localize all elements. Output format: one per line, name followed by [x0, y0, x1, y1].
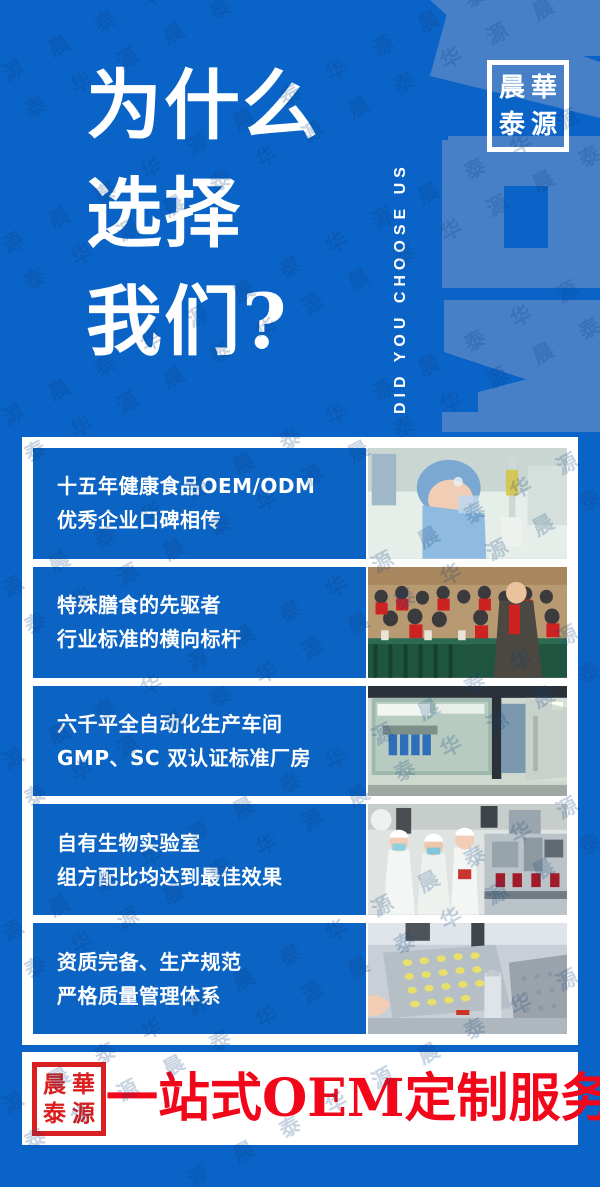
seal-char-yuan: 源 [69, 1099, 98, 1128]
feature-card-line-2: 严格质量管理体系 [57, 979, 366, 1013]
feature-card-text: 十五年健康食品OEM/ODM 优秀企业口碑相传 [33, 448, 366, 559]
feature-card-line-2: 行业标准的横向标杆 [57, 622, 366, 656]
header-section: 为什么 选择 我们? DID YOU CHOOSE US 晨 華 泰 源 [0, 0, 600, 432]
feature-card-line-1: 特殊膳食的先驱者 [57, 588, 366, 622]
feature-card: 自有生物实验室 组方配比均达到最佳效果 [33, 804, 567, 915]
page-title-line-3: 我们? [86, 268, 386, 376]
feature-card-line-2: 组方配比均达到最佳效果 [57, 860, 366, 894]
feature-card: 六千平全自动化生产车间 GMP、SC 双认证标准厂房 [33, 686, 567, 797]
company-seal-white: 晨 華 泰 源 [487, 60, 569, 152]
feature-card-line-1: 自有生物实验室 [57, 826, 366, 860]
poster-root: 为什么 选择 我们? DID YOU CHOOSE US 晨 華 泰 源 十五年… [0, 0, 600, 1187]
feature-card-line-2: GMP、SC 双认证标准厂房 [57, 741, 366, 775]
seal-char-hua: 華 [528, 69, 560, 106]
banner-headline: 一站式OEM定制服务 [106, 1073, 600, 1125]
seal-char-chen: 晨 [496, 69, 528, 106]
lab-technician-pipette-photo [368, 448, 567, 559]
feature-card-text: 自有生物实验室 组方配比均达到最佳效果 [33, 804, 366, 915]
feature-card-text: 特殊膳食的先驱者 行业标准的横向标杆 [33, 567, 366, 678]
feature-card-text: 六千平全自动化生产车间 GMP、SC 双认证标准厂房 [33, 686, 366, 797]
bottom-banner: 晨 華 泰 源 一站式OEM定制服务 [22, 1052, 578, 1145]
conference-audience-photo [368, 567, 567, 678]
tablet-packaging-machine-photo [368, 923, 567, 1034]
feature-card: 特殊膳食的先驱者 行业标准的横向标杆 [33, 567, 567, 678]
company-seal-red: 晨 華 泰 源 [32, 1062, 106, 1136]
seal-char-tai: 泰 [496, 106, 528, 143]
cleanroom-corridor-photo [368, 686, 567, 797]
seal-char-tai: 泰 [40, 1099, 69, 1128]
production-line-workers-photo [368, 804, 567, 915]
feature-card-line-1: 资质完备、生产规范 [57, 945, 366, 979]
page-title: 为什么 选择 我们? [86, 52, 386, 376]
feature-card: 十五年健康食品OEM/ODM 优秀企业口碑相传 [33, 448, 567, 559]
feature-cards-panel: 十五年健康食品OEM/ODM 优秀企业口碑相传 [22, 437, 578, 1045]
feature-card: 资质完备、生产规范 严格质量管理体系 [33, 923, 567, 1034]
vertical-tagline: DID YOU CHOOSE US [392, 14, 426, 414]
seal-char-yuan: 源 [528, 106, 560, 143]
seal-char-chen: 晨 [40, 1070, 69, 1099]
page-title-line-2: 选择 [86, 160, 386, 268]
page-title-line-1: 为什么 [86, 52, 386, 160]
feature-card-line-1: 六千平全自动化生产车间 [57, 707, 366, 741]
seal-char-hua: 華 [69, 1070, 98, 1099]
feature-card-line-2: 优秀企业口碑相传 [57, 503, 366, 537]
feature-card-line-1: 十五年健康食品OEM/ODM [57, 469, 366, 503]
feature-card-text: 资质完备、生产规范 严格质量管理体系 [33, 923, 366, 1034]
